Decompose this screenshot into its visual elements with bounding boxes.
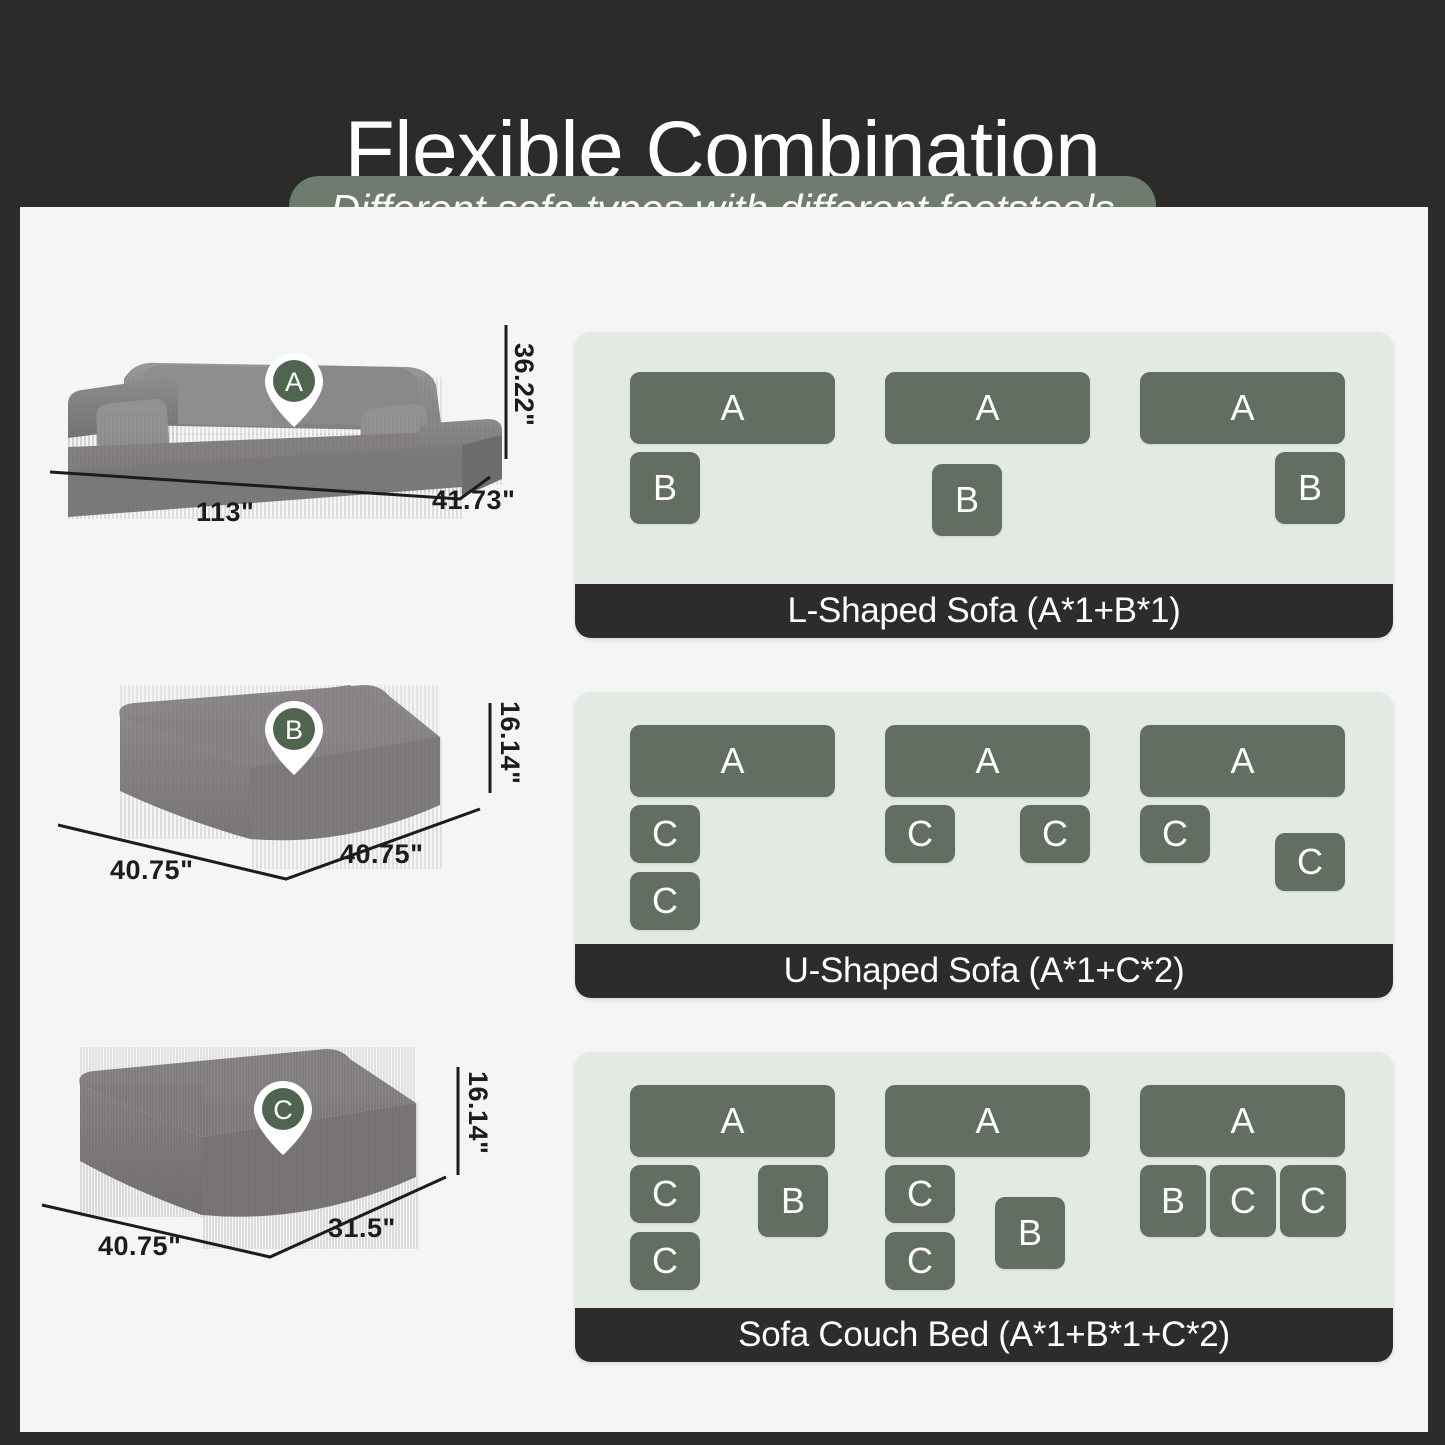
module-block-c: C (630, 1165, 700, 1223)
module-block-b: B (758, 1165, 828, 1237)
module-block-c: C (630, 872, 700, 930)
dim-c-depth: 31.5" (328, 1213, 396, 1244)
module-block-b: B (1140, 1165, 1206, 1237)
module-block-c: C (1275, 833, 1345, 891)
dim-b-width: 40.75" (110, 855, 193, 886)
module-block-a: A (1140, 725, 1345, 797)
product-c-ottoman: C 16.14" 40.75" 31.5" (20, 1027, 568, 1277)
dim-c-height: 16.14" (462, 1071, 493, 1154)
product-b-ottoman: B 16.14" 40.75" 40.75" (20, 667, 568, 907)
dim-a-height: 36.22" (508, 343, 539, 426)
module-block-a: A (885, 372, 1090, 444)
module-block-a: A (630, 372, 835, 444)
module-block-a: A (885, 725, 1090, 797)
module-block-c: C (1140, 805, 1210, 863)
module-block-a: A (630, 725, 835, 797)
dim-b-height: 16.14" (494, 701, 525, 784)
config-panel-sofa-couch-bed: ACCBACCBABCC Sofa Couch Bed (A*1+B*1+C*2… (575, 1052, 1393, 1362)
module-block-c: C (1280, 1165, 1346, 1237)
module-block-b: B (995, 1197, 1065, 1269)
pin-marker-b: B (263, 699, 325, 777)
infographic-page: Flexible Combination Different sofa type… (0, 0, 1445, 1445)
pin-marker-a: A (263, 351, 325, 429)
module-block-c: C (630, 805, 700, 863)
dim-c-width: 40.75" (98, 1231, 181, 1262)
module-block-b: B (1275, 452, 1345, 524)
panel-caption-l-shaped: L-Shaped Sofa (A*1+B*1) (575, 584, 1393, 638)
svg-text:C: C (273, 1095, 293, 1125)
dim-a-depth: 41.73" (432, 485, 515, 516)
dim-a-width: 113" (196, 497, 254, 528)
module-block-b: B (932, 464, 1002, 536)
panel-stage-u-shaped: ACCACCACC (575, 692, 1393, 944)
panel-caption-u-shaped: U-Shaped Sofa (A*1+C*2) (575, 944, 1393, 998)
module-block-a: A (885, 1085, 1090, 1157)
config-panel-u-shaped: ACCACCACC U-Shaped Sofa (A*1+C*2) (575, 692, 1393, 998)
module-block-c: C (1210, 1165, 1276, 1237)
module-block-c: C (630, 1232, 700, 1290)
panel-stage-sofa-couch-bed: ACCBACCBABCC (575, 1052, 1393, 1308)
module-block-c: C (885, 805, 955, 863)
module-block-c: C (885, 1232, 955, 1290)
svg-text:B: B (285, 715, 303, 745)
module-block-c: C (885, 1165, 955, 1223)
module-block-a: A (1140, 1085, 1345, 1157)
panel-caption-sofa-couch-bed: Sofa Couch Bed (A*1+B*1+C*2) (575, 1308, 1393, 1362)
module-block-a: A (1140, 372, 1345, 444)
module-block-a: A (630, 1085, 835, 1157)
module-block-b: B (630, 452, 700, 524)
product-a-sofa: A 36.22" 113" 41.73" (20, 307, 568, 547)
config-panel-l-shaped: ABABAB L-Shaped Sofa (A*1+B*1) (575, 332, 1393, 638)
pin-marker-c: C (252, 1079, 314, 1157)
dim-b-depth: 40.75" (340, 839, 423, 870)
svg-text:A: A (285, 367, 303, 397)
module-block-c: C (1020, 805, 1090, 863)
panel-stage-l-shaped: ABABAB (575, 332, 1393, 584)
